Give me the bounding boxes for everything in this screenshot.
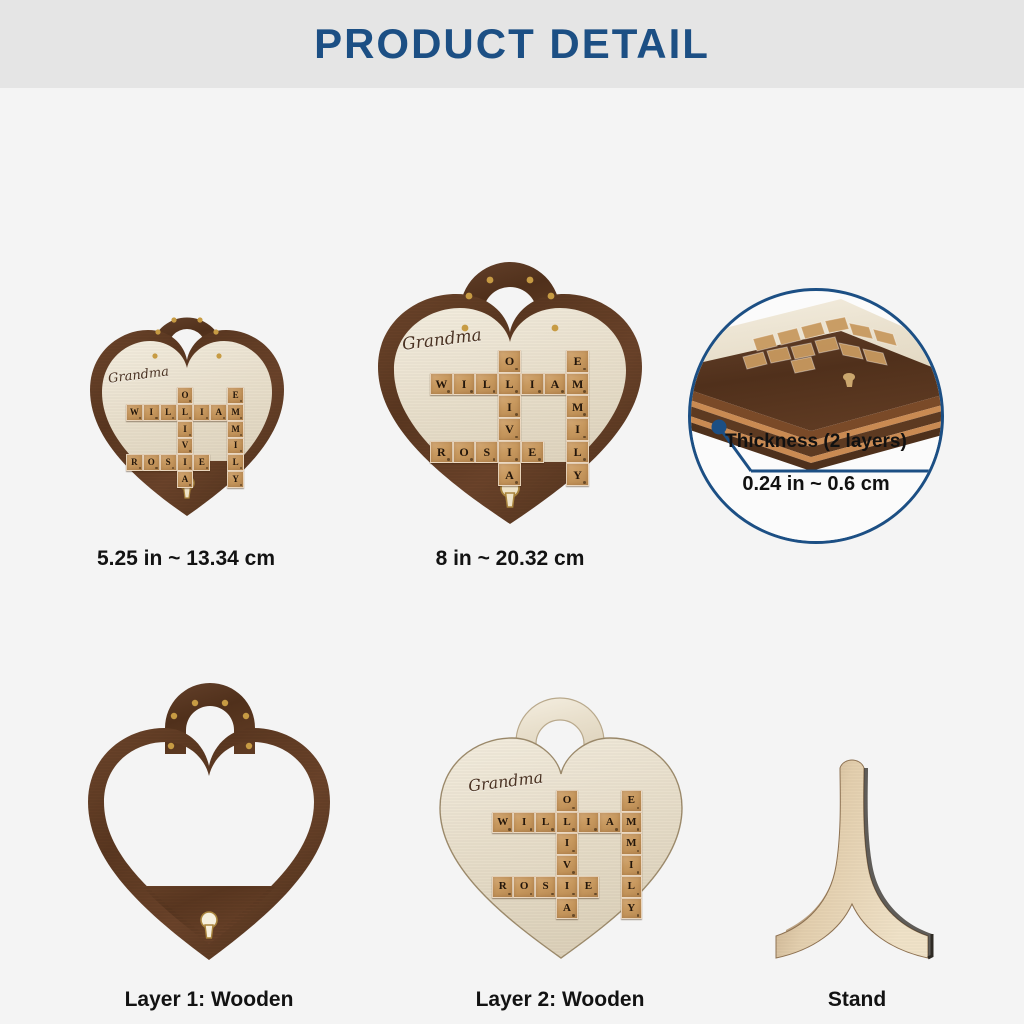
crossword-tile: S (475, 441, 498, 464)
product-heart-large[interactable]: Grandma OEWILLIAMIMVIROSIELAY (364, 266, 656, 536)
crossword-tile: O (453, 441, 476, 464)
crossword-tile: L (160, 404, 177, 421)
component-stand[interactable] (752, 744, 962, 970)
crossword-grid-layer-2: OEWILLIAMIMVIROSIELAY (492, 790, 642, 919)
crossword-tile: V (177, 438, 194, 455)
crossword-tile: A (599, 812, 620, 834)
crossword-grid-large: OEWILLIAMIMVIROSIELAY (430, 350, 589, 486)
page-header: PRODUCT DETAIL (0, 0, 1024, 88)
crossword-tile: I (578, 812, 599, 834)
component-layer-2[interactable]: Grandma OEWILLIAMIMVIROSIELAY (424, 708, 698, 968)
crossword-tile: O (177, 387, 194, 404)
page-title: PRODUCT DETAIL (314, 20, 710, 68)
crossword-tile: O (498, 350, 521, 373)
crossword-tile: I (177, 421, 194, 438)
thickness-title: Thickness (2 layers) (691, 431, 941, 453)
crossword-tile: I (556, 833, 577, 855)
crossword-tile: W (492, 812, 513, 834)
crossword-tile: V (556, 855, 577, 877)
crossword-tile: I (513, 812, 534, 834)
component-label-stand: Stand (735, 988, 979, 1012)
size-label-small: 5.25 in ~ 13.34 cm (0, 547, 372, 571)
crossword-tile: I (498, 395, 521, 418)
crossword-tile: V (498, 418, 521, 441)
crossword-tile: I (498, 441, 521, 464)
crossword-tile: E (227, 387, 244, 404)
crossword-tile: M (621, 833, 642, 855)
crossword-tile: A (556, 898, 577, 920)
crossword-tile: O (513, 876, 534, 898)
crossword-tile: I (556, 876, 577, 898)
crossword-tile: I (177, 454, 194, 471)
size-label-large: 8 in ~ 20.32 cm (330, 547, 690, 571)
thickness-slab-illustration (691, 291, 944, 544)
crossword-tile: W (126, 404, 143, 421)
crossword-grid-small: OEWILLIAMIMVIROSIELAY (126, 387, 244, 488)
crossword-tile: I (453, 373, 476, 396)
crossword-tile: I (227, 438, 244, 455)
component-layer-1[interactable] (78, 698, 340, 968)
crossword-tile: I (143, 404, 160, 421)
crossword-tile: L (177, 404, 194, 421)
crossword-tile: E (578, 876, 599, 898)
crossword-tile: S (160, 454, 177, 471)
crossword-tile: L (556, 812, 577, 834)
crossword-tile: M (566, 395, 589, 418)
crossword-tile: R (126, 454, 143, 471)
thickness-callout: Thickness (2 layers) 0.24 in ~ 0.6 cm (688, 288, 944, 544)
crossword-tile: Y (566, 463, 589, 486)
component-label-layer-1: Layer 1: Wooden (0, 988, 418, 1012)
crossword-tile: I (621, 855, 642, 877)
crossword-tile: M (227, 421, 244, 438)
crossword-tile: A (498, 463, 521, 486)
thickness-value: 0.24 in ~ 0.6 cm (691, 473, 941, 496)
crossword-tile: M (566, 373, 589, 396)
crossword-tile: I (193, 404, 210, 421)
crossword-tile: O (556, 790, 577, 812)
component-label-layer-2: Layer 2: Wooden (370, 988, 750, 1012)
crossword-tile: E (193, 454, 210, 471)
crossword-tile: L (475, 373, 498, 396)
crossword-tile: A (210, 404, 227, 421)
crossword-tile: I (566, 418, 589, 441)
crossword-tile: I (521, 373, 544, 396)
crossword-tile: W (430, 373, 453, 396)
crossword-tile: L (498, 373, 521, 396)
crossword-tile: M (227, 404, 244, 421)
crossword-tile: O (143, 454, 160, 471)
crossword-tile: S (535, 876, 556, 898)
crossword-tile: A (544, 373, 567, 396)
crossword-tile: L (535, 812, 556, 834)
crossword-tile: E (566, 350, 589, 373)
crossword-tile: L (227, 454, 244, 471)
crossword-tile: R (430, 441, 453, 464)
crossword-tile: A (177, 471, 194, 488)
crossword-tile: R (492, 876, 513, 898)
product-detail-stage: Grandma OEWILLIAMIMVIROSIELAY 5.25 in ~ … (0, 88, 1024, 1024)
crossword-tile: E (621, 790, 642, 812)
product-heart-small[interactable]: Grandma OEWILLIAMIMVIROSIELAY (78, 268, 296, 528)
crossword-tile: L (566, 441, 589, 464)
crossword-tile: Y (621, 898, 642, 920)
crossword-tile: M (621, 812, 642, 834)
crossword-tile: E (521, 441, 544, 464)
crossword-tile: Y (227, 471, 244, 488)
crossword-tile: L (621, 876, 642, 898)
